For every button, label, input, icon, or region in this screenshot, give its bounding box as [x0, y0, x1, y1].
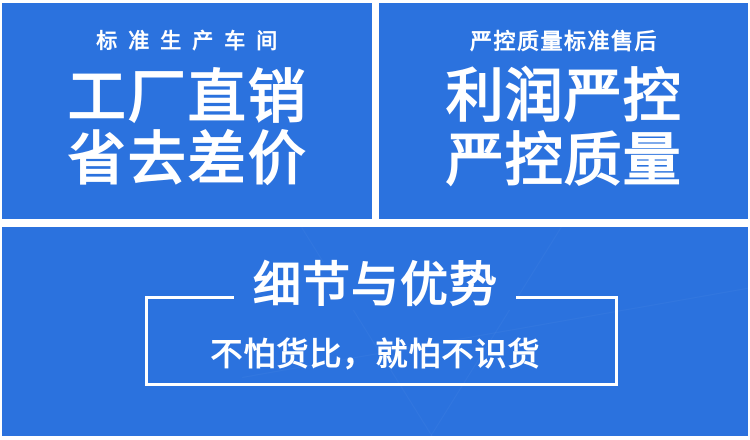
left-panel-eyebrow: 标准生产车间 [85, 31, 288, 52]
left-panel-headline-line1: 工厂直销 [66, 68, 308, 128]
left-panel-headline-line2: 省去差价 [66, 130, 308, 190]
right-panel-headline-line2: 严控质量 [445, 131, 682, 191]
promo-banner: 标准生产车间 工厂直销 省去差价 严控质量标准售后 利润严控 严控质量 细节与优… [0, 0, 750, 440]
panel-factory-direct: 标准生产车间 工厂直销 省去差价 [2, 3, 372, 219]
right-panel-headline-line1: 利润严控 [445, 67, 682, 127]
details-subtitle: 不怕货比，就怕不识货 [0, 338, 750, 370]
right-panel-eyebrow: 严控质量标准售后 [468, 31, 658, 53]
panel-quality-control: 严控质量标准售后 利润严控 严控质量 [379, 3, 749, 219]
top-panel-row: 标准生产车间 工厂直销 省去差价 严控质量标准售后 利润严控 严控质量 [0, 3, 750, 219]
